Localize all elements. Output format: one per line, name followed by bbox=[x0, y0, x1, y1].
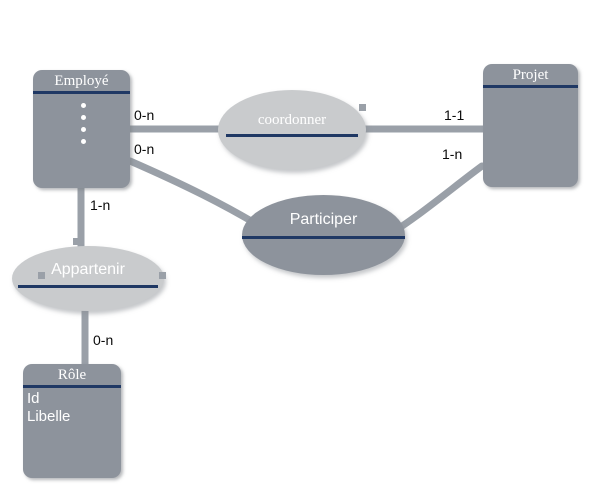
bullet-dot-icon bbox=[81, 127, 86, 132]
bullet-dot-icon bbox=[81, 115, 86, 120]
entity-employe-title: Employé bbox=[33, 70, 130, 91]
entity-role[interactable]: Rôle Id Libelle bbox=[23, 364, 121, 478]
relationship-participer[interactable]: Participer bbox=[242, 195, 405, 275]
relationship-coordonner-divider bbox=[226, 134, 358, 137]
cardinality-coordonner-projet: 1-1 bbox=[444, 108, 464, 123]
bullet-dot-icon bbox=[81, 139, 86, 144]
selection-handle[interactable] bbox=[38, 272, 45, 279]
relationship-coordonner-label: coordonner bbox=[218, 112, 366, 129]
entity-projet-attributes bbox=[483, 88, 578, 90]
entity-projet[interactable]: Projet bbox=[483, 64, 578, 187]
selection-handle[interactable] bbox=[73, 238, 80, 245]
relationship-appartenir-label: Appartenir bbox=[12, 261, 164, 279]
attribute-id: Id bbox=[27, 390, 121, 408]
cardinality-appartenir-role: 0-n bbox=[93, 333, 113, 348]
attribute-placeholder-dots bbox=[37, 96, 130, 144]
relationship-appartenir-divider bbox=[18, 285, 158, 288]
relationship-appartenir[interactable]: Appartenir bbox=[12, 246, 164, 311]
relationship-participer-divider bbox=[242, 236, 405, 239]
cardinality-employe-appartenir: 1-n bbox=[90, 198, 110, 213]
selection-handle[interactable] bbox=[359, 104, 366, 111]
entity-role-attributes: Id Libelle bbox=[23, 388, 121, 426]
entity-projet-title: Projet bbox=[483, 64, 578, 85]
selection-handle[interactable] bbox=[159, 272, 166, 279]
relationship-participer-label: Participer bbox=[242, 211, 405, 229]
cardinality-employe-participer: 0-n bbox=[134, 142, 154, 157]
entity-role-title: Rôle bbox=[23, 364, 121, 385]
entity-employe-attributes bbox=[33, 94, 130, 144]
attribute-libelle: Libelle bbox=[27, 408, 121, 426]
cardinality-participer-projet: 1-n bbox=[442, 147, 462, 162]
entity-employe[interactable]: Employé bbox=[33, 70, 130, 188]
relationship-coordonner[interactable]: coordonner bbox=[218, 90, 366, 170]
bullet-dot-icon bbox=[81, 103, 86, 108]
cardinality-employe-coordonner: 0-n bbox=[134, 108, 154, 123]
er-diagram-canvas: Employé Projet Rôle Id Libelle coordonne… bbox=[0, 0, 600, 503]
